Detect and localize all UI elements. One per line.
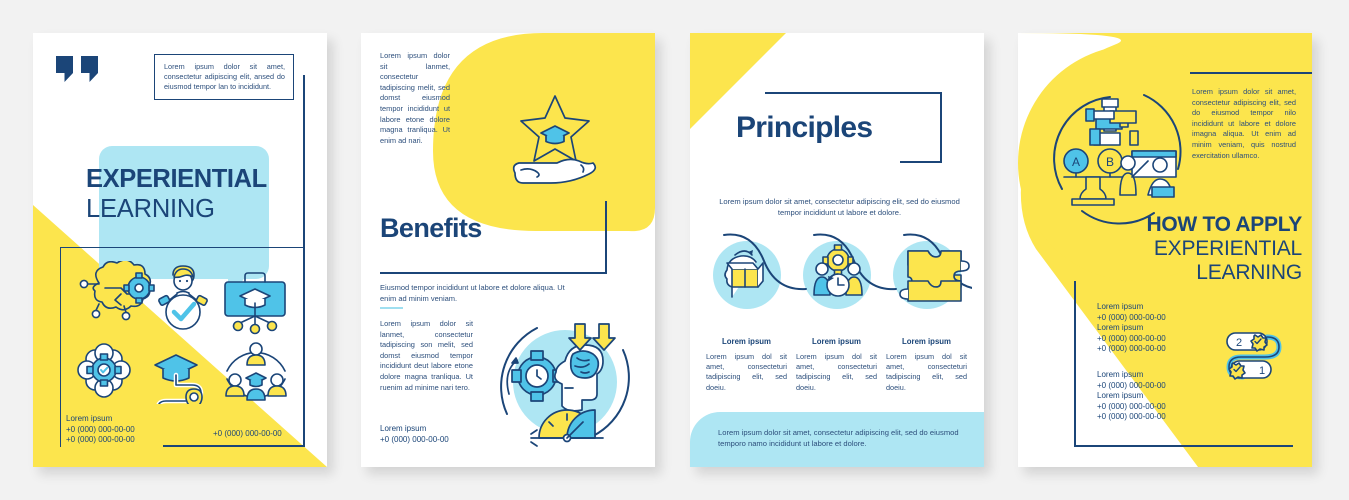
contact-label: Lorem ipsum — [1097, 323, 1166, 334]
team-graduation-icon — [226, 343, 286, 400]
principle-column: Lorem ipsum Lorem ipsum dol sit amet, co… — [886, 337, 967, 393]
benefits-lead: Eiusmod tempor incididunt ut labore et d… — [380, 283, 570, 304]
svg-text:B: B — [1106, 155, 1114, 169]
page-title: EXPERIENTIAL LEARNING — [86, 164, 326, 224]
benefits-heading: Benefits — [380, 213, 482, 244]
principles-lead: Lorem ipsum dolor sit amet, consectetur … — [711, 196, 968, 218]
apply-frame-left — [1074, 281, 1076, 447]
principle-column: Lorem ipsum Lorem ipsum dol sit amet, co… — [706, 337, 787, 393]
panel-how-to-apply: A B — [1018, 33, 1312, 467]
principle-text: Lorem ipsum dol sit amet, consecteturi t… — [886, 352, 967, 393]
apply-frame-bottom — [1074, 445, 1293, 447]
brain-gear-icon — [80, 261, 154, 320]
apply-contact-block-1: Lorem ipsum +0 (000) 000-00-00 Lorem ips… — [1097, 302, 1166, 355]
contact-label: Lorem ipsum — [1097, 370, 1166, 381]
balance-scale-ab-icon: A B — [1064, 149, 1124, 205]
apply-body-text: Lorem ipsum dolor sit amet, consectetur … — [1192, 87, 1296, 161]
apply-title: HOW TO APPLY EXPERIENTIAL LEARNING — [1054, 213, 1302, 285]
principles-heading: Principles — [736, 111, 872, 145]
teamwork-hands-icon — [1086, 99, 1138, 145]
panel-benefits: Lorem ipsum dolor sit lanmet, consectetu… — [361, 33, 655, 467]
principles-banner: Lorem ipsum dolor sit amet, consectetur … — [690, 412, 984, 467]
benefits-frame-right — [605, 201, 607, 273]
principles-lead-text: Lorem ipsum dolor sit amet, consectetur … — [711, 196, 968, 218]
benefits-body-text: Lorem ipsum dolor sit lanmet, consectetu… — [380, 319, 473, 393]
presentation-teaching-icon — [1120, 151, 1176, 197]
contact-phone: +0 (000) 000-00-00 — [1097, 402, 1166, 413]
contact-phone: +0 (000) 000-00-00 — [1097, 344, 1166, 355]
contact-label: Lorem ipsum — [380, 424, 449, 435]
cover-intro-box: Lorem ipsum dolor sit amet, consectetur … — [154, 54, 294, 100]
contact-phone: +0 (000) 000-00-00 — [1097, 412, 1166, 423]
brain-gear-check-icon — [78, 344, 130, 397]
cover-icon-grid — [77, 261, 292, 404]
contact-label: Lorem ipsum — [1097, 391, 1166, 402]
principle-title: Lorem ipsum — [886, 337, 967, 346]
contact-phone: +0 (000) 000-00-00 — [213, 429, 282, 440]
quotation-mark-icon — [55, 55, 101, 83]
cover-frame-bottom — [163, 445, 305, 447]
panel-cover: Lorem ipsum dolor sit amet, consectetur … — [33, 33, 327, 467]
apply-frame-top — [1190, 72, 1312, 74]
principles-frame-bottom — [900, 161, 942, 163]
benefits-intro-text: Lorem ipsum dolor sit lanmet, consectetu… — [380, 51, 450, 146]
contact-label: Lorem ipsum — [1097, 302, 1166, 313]
apply-title-line2: EXPERIENTIAL — [1054, 237, 1302, 261]
panel-principles: Principles Lorem ipsum dolor sit amet, c… — [690, 33, 984, 467]
accent-divider — [380, 307, 403, 309]
svg-text:2: 2 — [1236, 337, 1242, 349]
contact-phone: +0 (000) 000-00-00 — [66, 435, 135, 446]
contact-phone: +0 (000) 000-00-00 — [1097, 334, 1166, 345]
page-title-line2: LEARNING — [86, 194, 326, 224]
graduation-path-icon — [155, 355, 202, 404]
principle-title: Lorem ipsum — [796, 337, 877, 346]
cover-frame-right — [303, 75, 305, 447]
principle-text: Lorem ipsum dol sit amet, consecteturi t… — [796, 352, 877, 393]
person-checkmark-icon — [158, 266, 208, 329]
apply-title-line1: HOW TO APPLY — [1054, 213, 1302, 237]
apply-contact-block-2: Lorem ipsum +0 (000) 000-00-00 Lorem ips… — [1097, 370, 1166, 423]
puzzle-pieces-icon — [900, 251, 969, 301]
principles-frame-top — [765, 92, 942, 94]
principles-icon-row — [702, 233, 972, 313]
contact-phone: +0 (000) 000-00-00 — [1097, 313, 1166, 324]
principle-title: Lorem ipsum — [706, 337, 787, 346]
contact-phone: +0 (000) 000-00-00 — [1097, 381, 1166, 392]
principles-columns: Lorem ipsum Lorem ipsum dol sit amet, co… — [706, 337, 968, 393]
apply-body: Lorem ipsum dolor sit amet, consectetur … — [1192, 87, 1296, 161]
contact-phone: +0 (000) 000-00-00 — [66, 425, 135, 436]
gear-clock-brain-gauge-icon — [485, 310, 645, 458]
benefits-body: Lorem ipsum dolor sit lanmet, consectetu… — [380, 319, 473, 393]
principle-text: Lorem ipsum dol sit amet, consecteturi t… — [706, 352, 787, 393]
benefits-frame-bottom — [380, 272, 607, 274]
cover-contact-left: Lorem ipsum +0 (000) 000-00-00 +0 (000) … — [66, 414, 135, 446]
benefits-intro: Lorem ipsum dolor sit lanmet, consectetu… — [380, 51, 450, 146]
brochure-layout: Lorem ipsum dolor sit amet, consectetur … — [0, 0, 1349, 500]
hand-holding-star-graduation-icon — [503, 88, 607, 193]
briefcase-graduation-icon — [225, 273, 285, 334]
principles-frame-right — [940, 92, 942, 163]
svg-text:1: 1 — [1259, 365, 1265, 377]
svg-text:A: A — [1072, 155, 1080, 169]
cover-intro-text: Lorem ipsum dolor sit amet, consectetur … — [164, 62, 285, 93]
contact-label: Lorem ipsum — [66, 414, 135, 425]
cover-contact-right: +0 (000) 000-00-00 — [213, 429, 282, 440]
principles-banner-text: Lorem ipsum dolor sit amet, consectetur … — [718, 427, 962, 449]
page-title-line1: EXPERIENTIAL — [86, 164, 326, 194]
principle-column: Lorem ipsum Lorem ipsum dol sit amet, co… — [796, 337, 877, 393]
benefits-contact: Lorem ipsum +0 (000) 000-00-00 — [380, 424, 449, 445]
contact-phone: +0 (000) 000-00-00 — [380, 435, 449, 446]
benefits-lead-text: Eiusmod tempor incididunt ut labore et d… — [380, 283, 570, 304]
apply-icon-cluster: A B — [1048, 83, 1198, 233]
numbered-path-badges-icon: 2 1 — [1211, 331, 1287, 381]
apply-title-line3: LEARNING — [1054, 261, 1302, 285]
